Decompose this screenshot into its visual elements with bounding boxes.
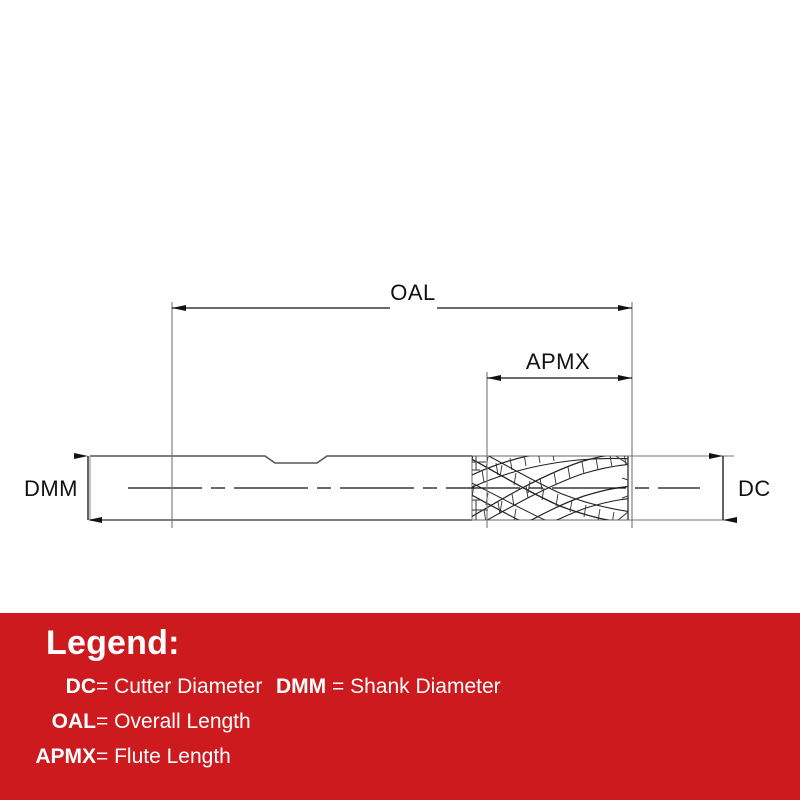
oal-label: OAL: [390, 280, 436, 305]
end-mill-drawing: OAL APMX DMM DC: [0, 0, 800, 613]
legend-equals: =: [326, 675, 350, 698]
apmx-label: APMX: [526, 349, 590, 374]
legend-entry-oal: OAL = Overall Length: [52, 710, 96, 734]
legend-row: OAL = Overall Length: [0, 710, 800, 745]
extension-lines: [172, 302, 734, 528]
legend-rows: DC = Cutter Diameter DMM = Shank Diamete…: [0, 675, 800, 780]
legend-entry-dmm: DMM = Shank Diameter: [276, 675, 501, 699]
flute-helix-2: [466, 486, 636, 570]
legend-banner: Legend: DC = Cutter Diameter DMM = Shank…: [0, 613, 800, 800]
legend-entry-dc: DC = Cutter Diameter: [66, 675, 96, 699]
legend-equals: =: [96, 745, 114, 768]
legend-definition: Shank Diameter: [350, 675, 501, 698]
flute-helix-3: [462, 446, 634, 492]
legend-row: APMX = Flute Length: [0, 745, 800, 780]
legend-equals: =: [96, 710, 114, 733]
dimension-apmx: APMX: [487, 349, 632, 378]
legend-definition: Cutter Diameter: [114, 675, 262, 698]
dmm-label: DMM: [24, 476, 78, 501]
dc-label: DC: [738, 476, 771, 501]
dimension-oal: OAL: [172, 280, 632, 308]
legend-title: Legend:: [46, 625, 180, 662]
legend-abbr: DMM: [276, 675, 326, 698]
legend-equals: =: [96, 675, 114, 698]
legend-row: DC = Cutter Diameter DMM = Shank Diamete…: [0, 675, 800, 710]
technical-drawing-area: OAL APMX DMM DC: [0, 0, 800, 613]
legend-abbr: DC: [66, 675, 96, 698]
shank-top-edge: [90, 456, 472, 463]
dimension-dmm: DMM: [24, 456, 88, 520]
legend-entry-apmx: APMX = Flute Length: [35, 745, 96, 769]
legend-definition: Flute Length: [114, 745, 231, 768]
flute-geometry: [462, 444, 636, 570]
legend-abbr: APMX: [35, 745, 96, 768]
flute-helix-5: [466, 480, 632, 558]
legend-definition: Overall Length: [114, 710, 251, 733]
legend-abbr: OAL: [52, 710, 96, 733]
dimension-dc: DC: [723, 456, 771, 520]
